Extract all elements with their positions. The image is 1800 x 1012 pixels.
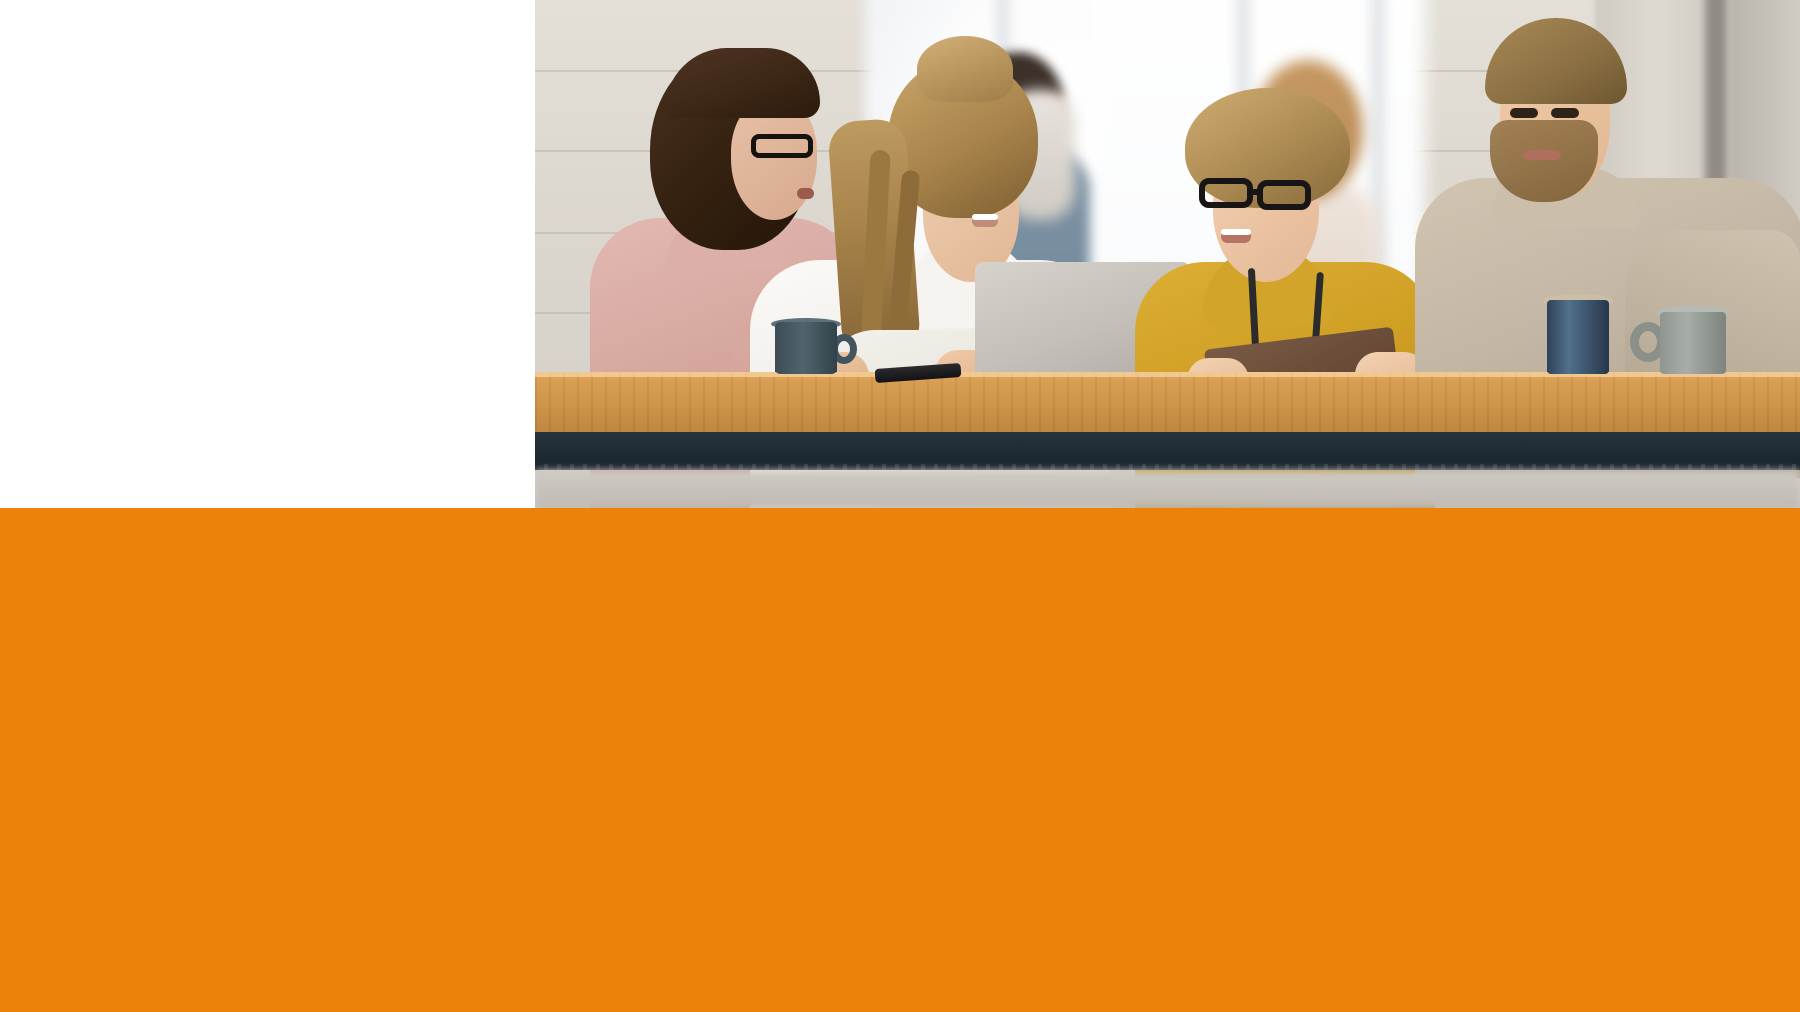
person-bearded-man-eye — [1551, 108, 1579, 118]
glasses-bridge — [1251, 189, 1261, 195]
wooden-table-grain — [535, 372, 1800, 434]
person-mustard-hoodie-glasses-icon — [1257, 180, 1311, 210]
person-mustard-hoodie-glasses-icon — [1199, 178, 1253, 208]
person-bearded-man-eye — [1510, 108, 1538, 118]
presentation-slide: JENIS DAN STANDAR PELAYANAN PRIMA (EXCEL… — [0, 0, 1800, 1012]
person-woman-bob-glasses-icon — [751, 134, 813, 158]
dark-grey-mug-front — [775, 322, 837, 374]
person-woman-bob-mouth — [797, 188, 814, 199]
person-mustard-hoodie-teeth — [1221, 229, 1251, 235]
hero-photo — [535, 0, 1800, 509]
person-woman-dreads-bun — [917, 36, 1013, 102]
wooden-table-highlight — [535, 372, 1800, 377]
person-bearded-man-mouth — [1523, 150, 1561, 160]
under-table-background — [535, 470, 1800, 509]
orange-title-band: JENIS DAN STANDAR PELAYANAN PRIMA (EXCEL… — [0, 508, 1800, 1012]
grey-mug-front — [1660, 312, 1726, 374]
person-woman-dreads-teeth — [972, 214, 998, 220]
blue-ceramic-cup-front — [1547, 300, 1609, 374]
